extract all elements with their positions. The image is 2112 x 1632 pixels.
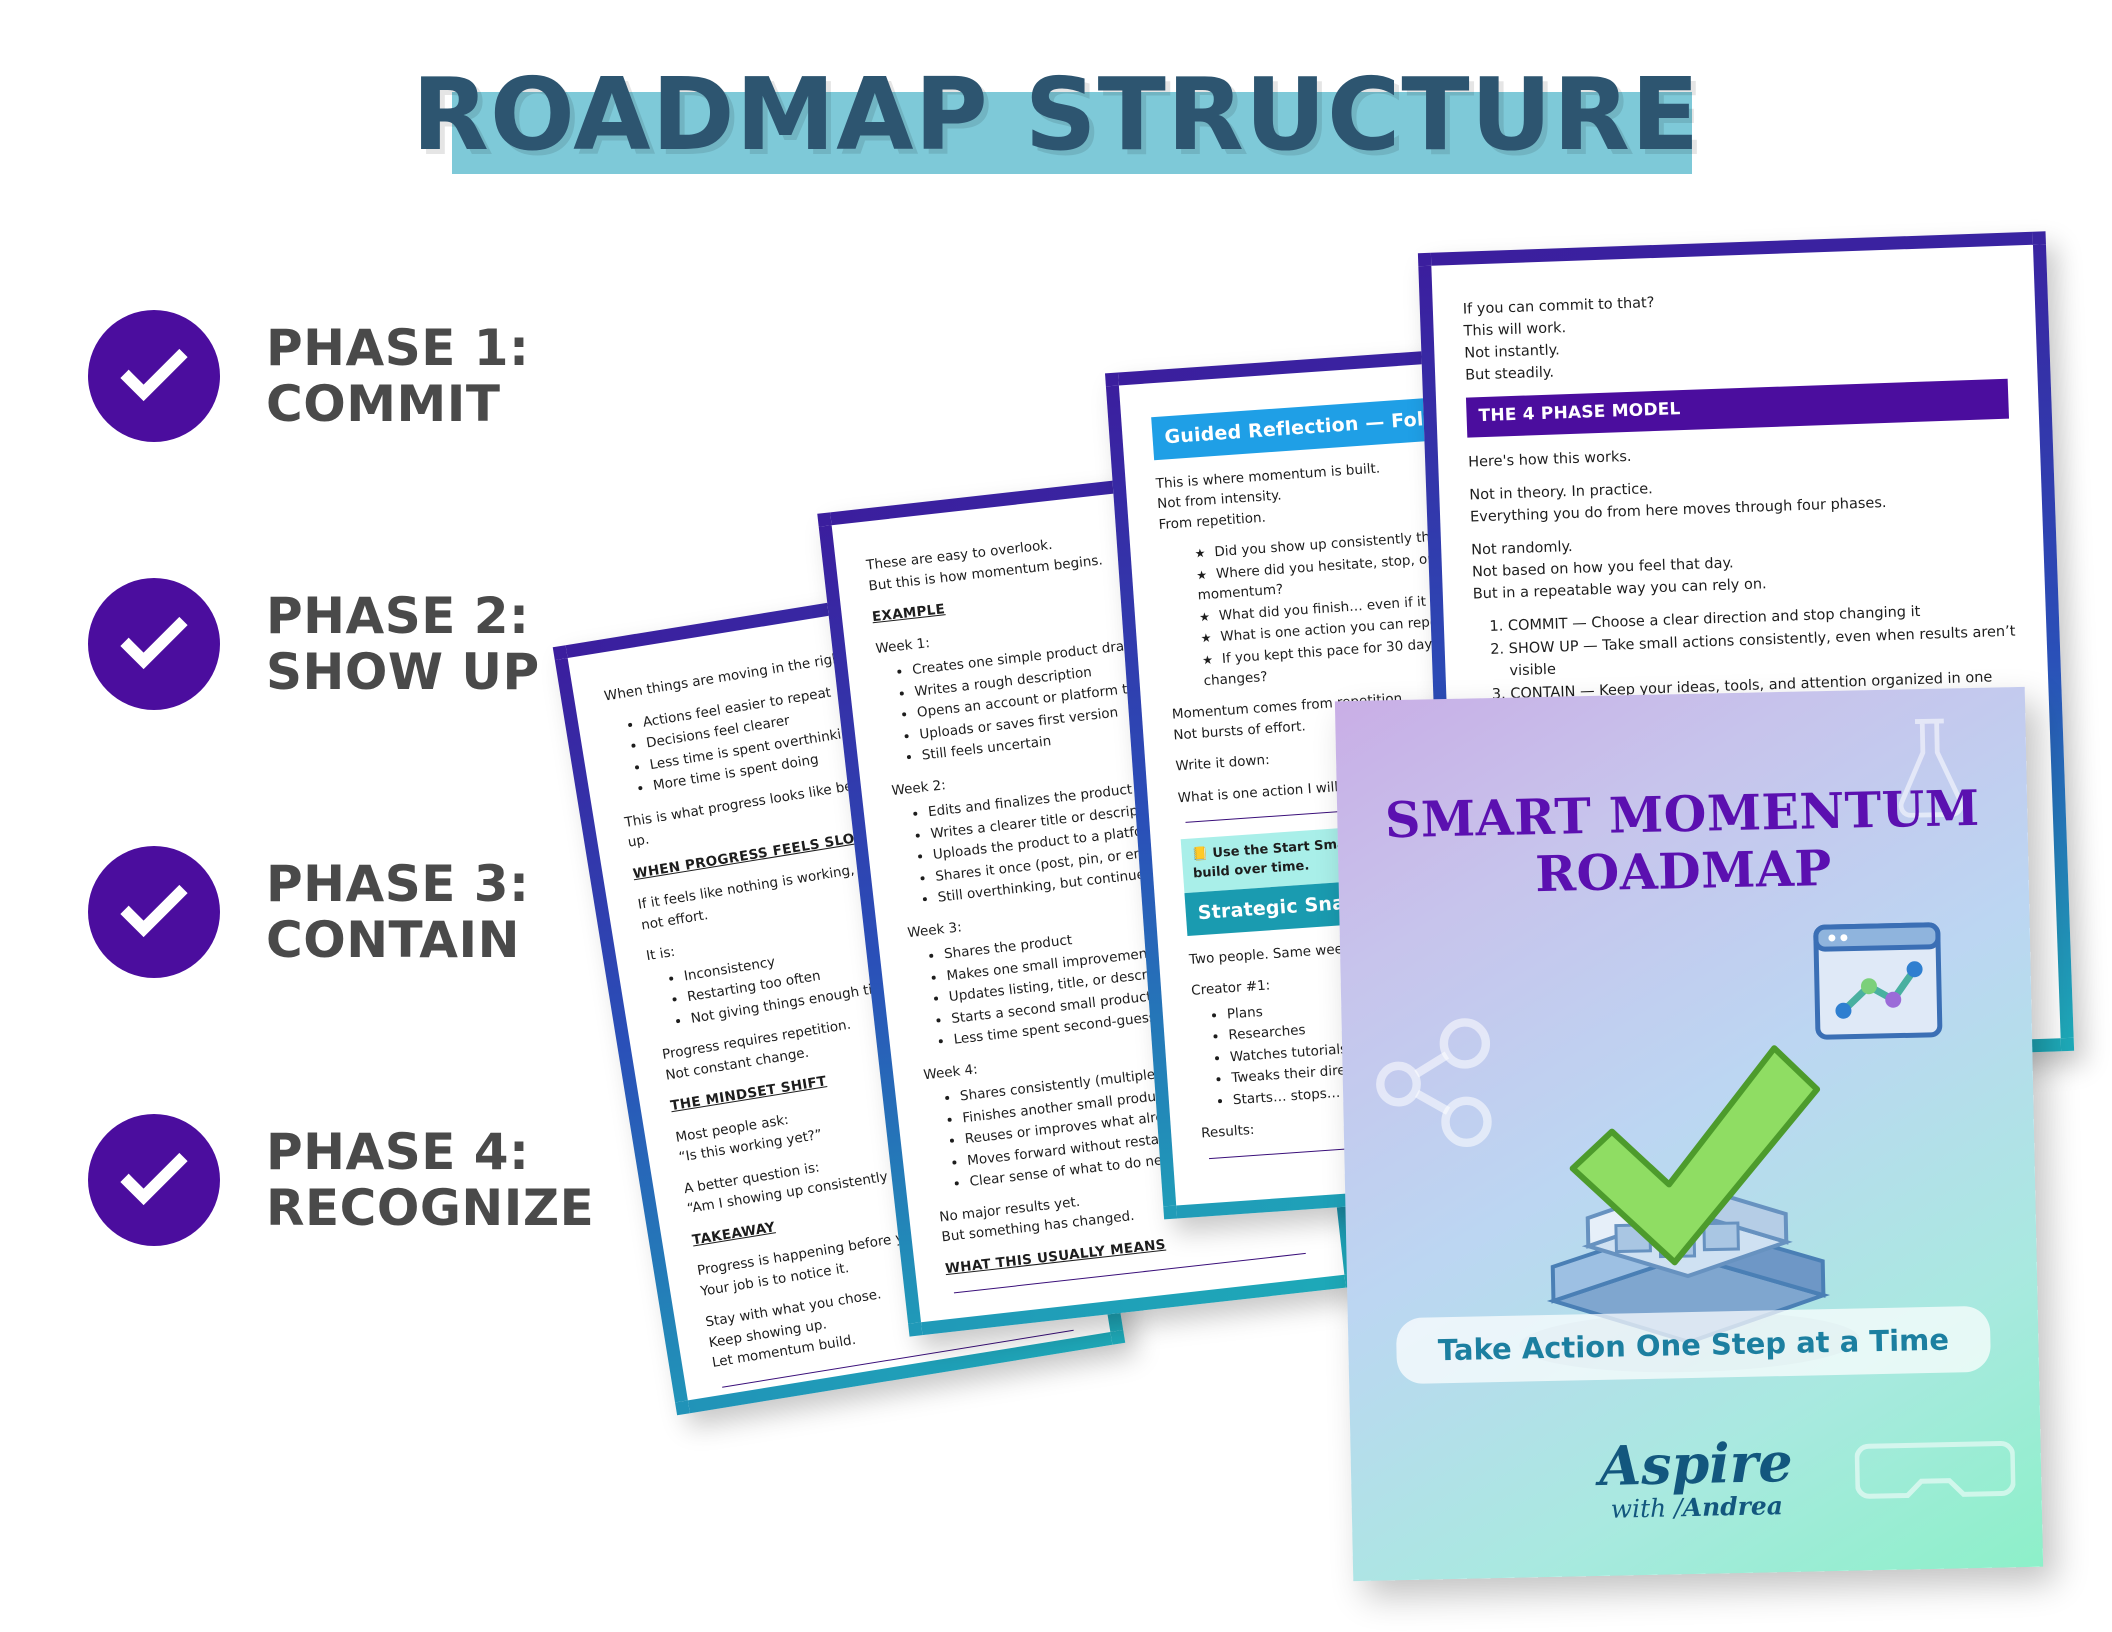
phase-label-1: PHASE 1: COMMIT — [266, 320, 530, 432]
phase-label-4: PHASE 4: RECOGNIZE — [266, 1124, 594, 1236]
sheet4-repeatable: Not randomly. Not based on how you feel … — [1471, 521, 2015, 606]
poster-canvas: ROADMAP STRUCTURE PHASE 1: COMMIT PHASE … — [0, 0, 2112, 1632]
sheet4-in-practice: Not in theory. In practice. Everything y… — [1469, 466, 2012, 529]
brand-tagline-pre: with — [1610, 1494, 1666, 1524]
page-title-wrapper: ROADMAP STRUCTURE — [0, 56, 2112, 173]
cover-card[interactable]: SMART MOMENTUM ROADMAP Take Ac — [1335, 687, 2043, 1581]
phase-item-1[interactable]: PHASE 1: COMMIT — [88, 288, 708, 464]
cover-title: SMART MOMENTUM ROADMAP — [1337, 779, 2029, 907]
check-circle-icon — [88, 578, 220, 710]
sheet4-banner: THE 4 PHASE MODEL — [1466, 379, 2009, 438]
brand-logo: Aspire with /Andrea — [1350, 1430, 2042, 1529]
phase-label-2: PHASE 2: SHOW UP — [266, 588, 540, 700]
phase-label-3: PHASE 3: CONTAIN — [266, 856, 530, 968]
page-title: ROADMAP STRUCTURE — [412, 56, 1700, 173]
check-circle-icon — [88, 846, 220, 978]
sheet4-heres-how: Here's how this works. — [1468, 433, 2010, 474]
check-circle-icon — [88, 1114, 220, 1246]
brand-tagline-post: Andrea — [1682, 1491, 1783, 1522]
check-circle-icon — [88, 310, 220, 442]
sheet4-commit-intro: If you can commit to that? This will wor… — [1462, 280, 2007, 387]
cover-cta-banner: Take Action One Step at a Time — [1396, 1306, 1991, 1384]
phase-item-4[interactable]: PHASE 4: RECOGNIZE — [88, 1092, 708, 1268]
